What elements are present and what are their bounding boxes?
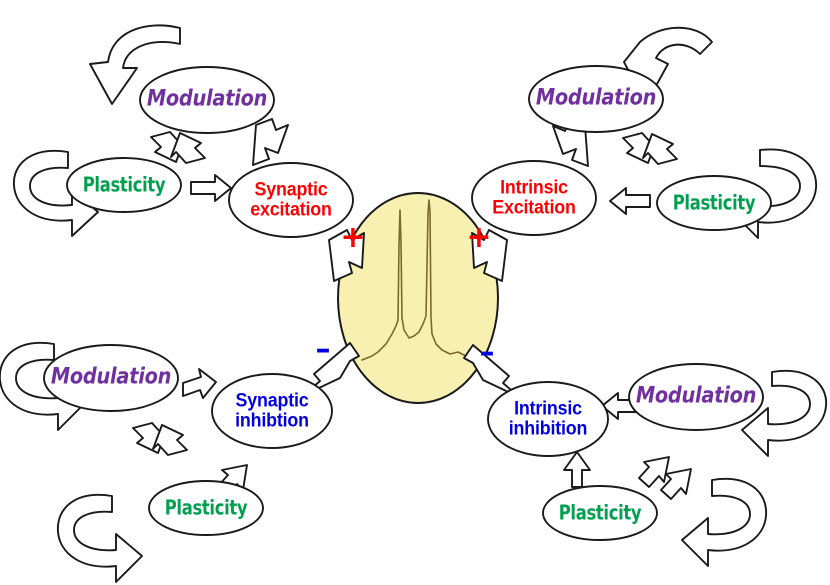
neuron-soma: [338, 193, 498, 403]
node-tr-intrinsic-excitation[interactable]: [472, 161, 596, 235]
node-br-intrinsic-inhibition[interactable]: [488, 382, 608, 456]
node-tl-synaptic-excitation[interactable]: [229, 163, 353, 237]
arrow-bl-modulation-to-target: [183, 369, 216, 398]
diagram-canvas: Modulation Plasticity Synaptic excitatio…: [0, 0, 830, 585]
arrow-br-plast-mod-down: [661, 469, 691, 499]
diagram-vector-layer: [0, 0, 830, 585]
node-tl-modulation[interactable]: [140, 67, 274, 133]
node-bl-plasticity[interactable]: [149, 481, 263, 535]
node-br-plasticity[interactable]: [543, 486, 657, 540]
recycle-arrow-bl-bottom: [58, 495, 142, 582]
arrow-tl-modulation-to-target: [253, 119, 288, 165]
recycle-arrow-br-bottom: [682, 479, 766, 566]
arrow-br-mod-plast-up: [639, 457, 669, 487]
arrow-tl-plasticity-to-target: [191, 175, 231, 201]
node-br-modulation[interactable]: [629, 364, 763, 430]
node-tr-modulation[interactable]: [529, 66, 663, 132]
arrow-br-plasticity-to-target: [564, 452, 590, 487]
arrow-tr-plasticity-to-target: [610, 188, 650, 214]
node-tl-plasticity[interactable]: [67, 158, 181, 212]
node-bl-synaptic-inhibition[interactable]: [212, 374, 332, 448]
node-bl-modulation[interactable]: [44, 345, 178, 411]
node-tr-plasticity[interactable]: [657, 176, 771, 230]
